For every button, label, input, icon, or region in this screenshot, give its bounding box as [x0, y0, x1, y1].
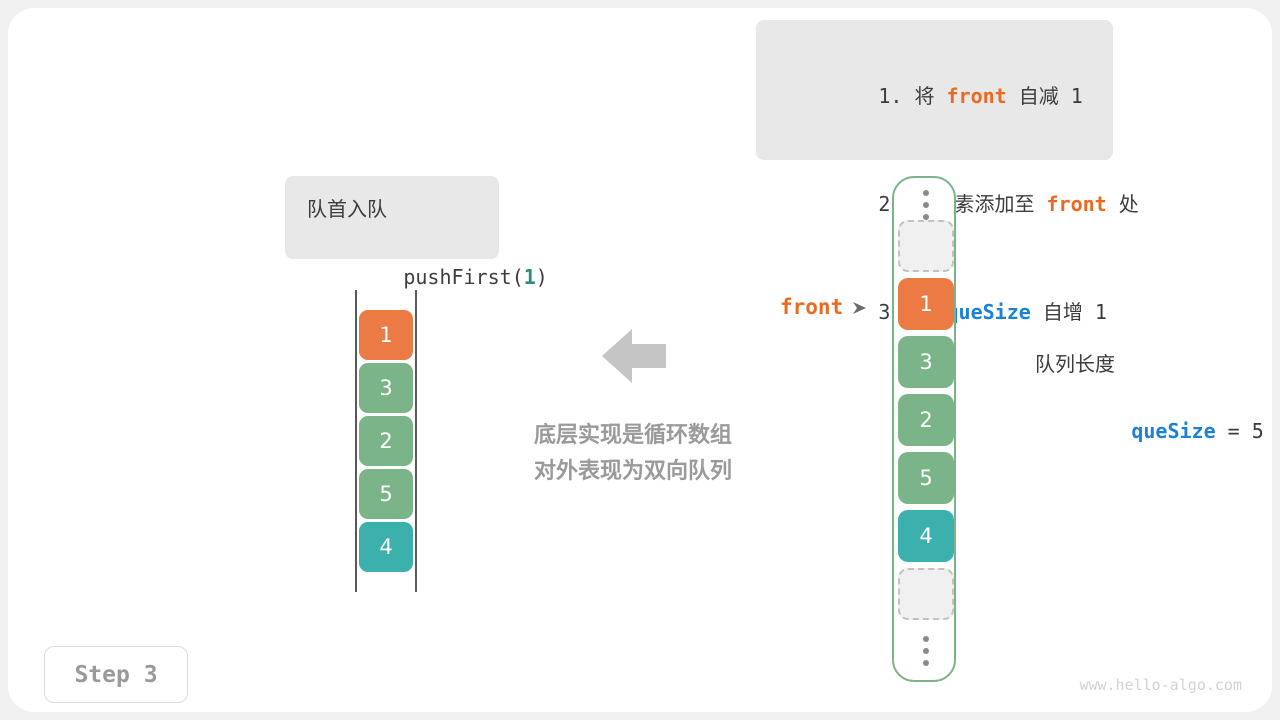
logical-deque: 1 3 2 5 4 — [355, 290, 417, 592]
array-slot-empty — [898, 220, 954, 272]
operation-call-suffix: ) — [536, 265, 548, 289]
deque-cell: 5 — [359, 469, 413, 519]
array-slot: 2 — [898, 394, 954, 446]
deque-rail-right — [415, 290, 417, 592]
circular-array: 1 3 2 5 4 — [892, 176, 956, 682]
front-pointer-label: front — [780, 295, 843, 319]
deque-rail-left — [355, 290, 357, 592]
instruction-line-1: 1. 将 front 自减 1 — [782, 42, 1087, 150]
ellipsis-dots-bottom — [921, 636, 931, 670]
instruction-line-2-keyword: front — [1047, 192, 1107, 216]
deque-cell: 3 — [359, 363, 413, 413]
instruction-line-1-prefix: 1. 将 — [878, 84, 946, 108]
quesize-expression: queSize = 5 — [1035, 380, 1265, 482]
instruction-line-2-suffix: 处 — [1107, 192, 1139, 216]
deque-cell: 2 — [359, 416, 413, 466]
implementation-note: 底层实现是循环数组 对外表现为双向队列 — [488, 418, 778, 490]
quesize-title: 队列长度 — [1035, 348, 1265, 380]
ellipsis-dots-top — [921, 190, 931, 224]
array-slot: 5 — [898, 452, 954, 504]
deque-cell: 4 — [359, 522, 413, 572]
instruction-box: 1. 将 front 自减 1 2. 将元素添加至 front 处 3. 将 q… — [756, 20, 1113, 160]
instruction-line-1-suffix: 自减 1 — [1007, 84, 1083, 108]
implementation-arrow-icon — [602, 327, 666, 385]
quesize-equals: = — [1216, 419, 1252, 443]
watermark: www.hello-algo.com — [1079, 676, 1242, 694]
implementation-note-line-2: 对外表现为双向队列 — [488, 454, 778, 490]
front-pointer: front — [780, 291, 869, 323]
step-badge: Step 3 — [44, 646, 188, 703]
canvas-background: 1. 将 front 自减 1 2. 将元素添加至 front 处 3. 将 q… — [0, 0, 1280, 720]
arrow-right-icon — [853, 300, 869, 314]
quesize-info: 队列长度 queSize = 5 — [1035, 348, 1265, 482]
deque-cell: 1 — [359, 310, 413, 360]
quesize-value-number: 5 — [1252, 419, 1264, 443]
operation-label-box: 队首入队 pushFirst(1) — [285, 176, 499, 259]
quesize-name: queSize — [1131, 419, 1215, 443]
step-badge-label: Step 3 — [74, 662, 157, 688]
operation-call-prefix: pushFirst( — [403, 265, 523, 289]
operation-title: 队首入队 — [307, 192, 499, 226]
diagram-card: 1. 将 front 自减 1 2. 将元素添加至 front 处 3. 将 q… — [8, 8, 1272, 712]
array-slot: 1 — [898, 278, 954, 330]
array-slot-empty — [898, 568, 954, 620]
implementation-note-line-1: 底层实现是循环数组 — [488, 418, 778, 454]
instruction-line-1-keyword: front — [947, 84, 1007, 108]
operation-call-arg: 1 — [524, 265, 536, 289]
instruction-line-3-suffix: 自增 1 — [1031, 300, 1107, 324]
array-slot: 4 — [898, 510, 954, 562]
array-slot: 3 — [898, 336, 954, 388]
instruction-line-3-keyword: queSize — [947, 300, 1031, 324]
